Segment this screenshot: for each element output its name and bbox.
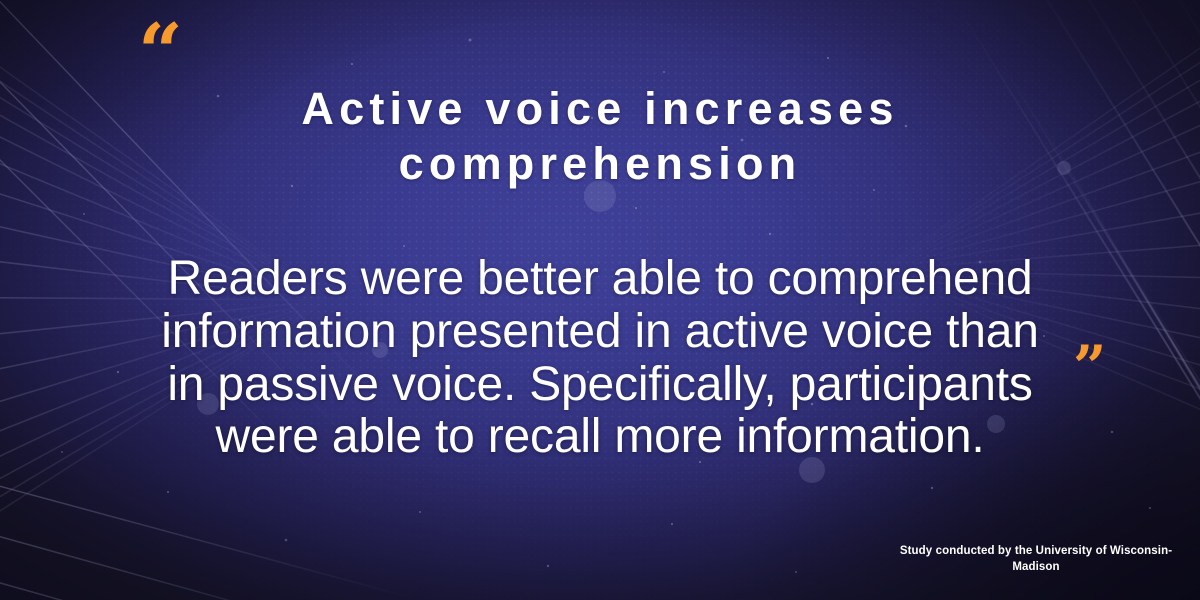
opening-quote-mark: “ xyxy=(138,14,183,92)
closing-quote-mark: ” xyxy=(1073,338,1106,396)
study-attribution: Study conducted by the University of Wis… xyxy=(896,544,1176,576)
card-content: “ ” Active voice increases comprehension… xyxy=(0,0,1200,600)
quote-body-text: Readers were better able to comprehend i… xyxy=(150,253,1050,464)
quote-graphic-card: “ ” Active voice increases comprehension… xyxy=(0,0,1200,600)
headline-title: Active voice increases comprehension xyxy=(160,82,1040,192)
